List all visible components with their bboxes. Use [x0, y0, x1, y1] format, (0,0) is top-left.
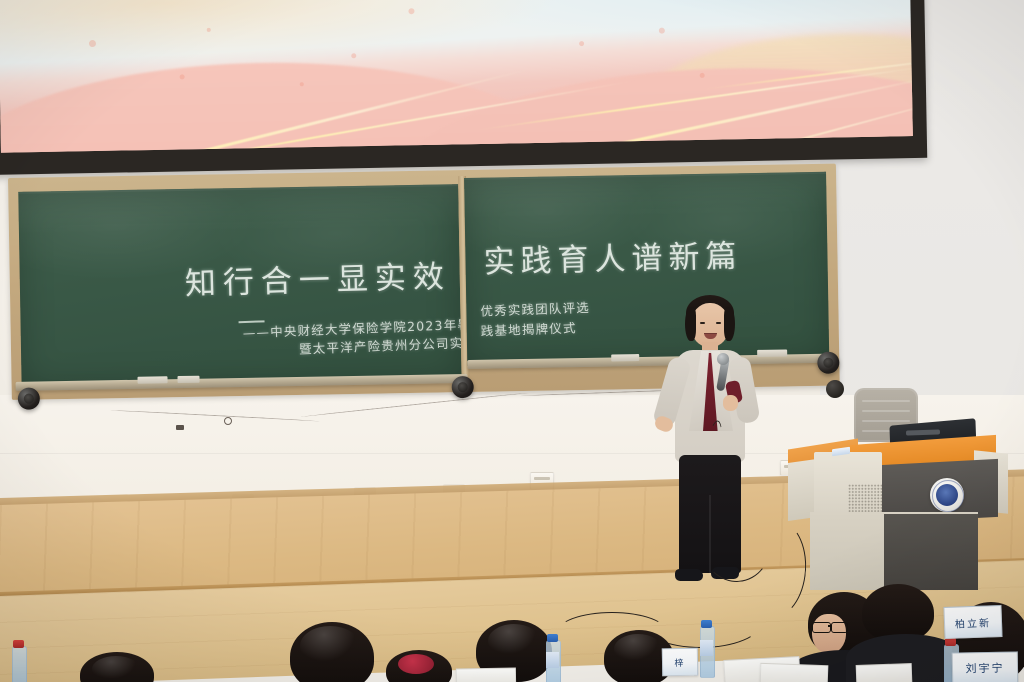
audience-head-sheen	[614, 634, 662, 664]
bottle-label	[546, 652, 559, 668]
projection-screen-frame	[0, 0, 927, 175]
presenter-shoe	[675, 569, 703, 581]
board-title-left: 知行合一显实效	[184, 251, 451, 303]
presenter-hand-right	[723, 395, 738, 411]
wall-speaker-icon	[826, 380, 844, 398]
cable-ring	[224, 417, 232, 425]
blackboard-eraser	[177, 376, 199, 383]
document-sheet	[856, 663, 913, 682]
blackboard-eraser	[611, 354, 639, 361]
board-title-right: 实践育人谱新篇	[483, 230, 743, 281]
name-card: 梓	[662, 648, 698, 677]
screen-speck	[700, 73, 705, 78]
name-card: 刘宇宁	[952, 651, 1019, 682]
screen-speck	[351, 53, 356, 58]
hair-accessory	[398, 654, 434, 674]
screen-speck	[300, 82, 304, 86]
audience-head-sheen	[300, 626, 360, 666]
eyeglasses-icon	[812, 622, 831, 633]
blackboard-eraser	[137, 376, 167, 384]
screen-speck	[180, 74, 185, 79]
screen-speck	[579, 41, 584, 46]
blackboard-panel-left: 知行合一显实效 ——中央财经大学保险学院2023年暑期 暨太平洋产险贵州分公司实	[18, 184, 461, 388]
document-sheet	[456, 667, 516, 682]
university-seal-icon	[930, 478, 964, 512]
bottle-cap	[547, 634, 558, 642]
projection-screen-surface	[0, 0, 913, 153]
board-subtitle-right-1: 优秀实践团队评选	[480, 297, 590, 320]
bottle-cap	[945, 638, 956, 646]
board-subtitle-right-2: 践基地揭牌仪式	[480, 317, 577, 339]
microphone-head	[717, 353, 729, 365]
screen-speck	[89, 40, 96, 47]
bottle-cap	[13, 640, 24, 648]
audience-head-sheen	[92, 656, 140, 682]
screen-speck	[659, 28, 665, 34]
name-card: 柏立新	[943, 605, 1002, 639]
water-bottle	[12, 646, 27, 682]
bottle-cap	[701, 620, 712, 628]
lectern[interactable]	[788, 430, 1008, 590]
cable-clip	[176, 425, 184, 430]
screen-speck	[408, 8, 414, 14]
audience-face	[812, 614, 846, 654]
presenter-eye	[700, 322, 705, 324]
screen-speck	[207, 28, 211, 32]
audience-head-sheen	[488, 624, 540, 658]
presenter-hair-side	[724, 307, 735, 341]
document-sheet	[760, 663, 829, 682]
presenter-eye	[716, 322, 721, 324]
eyeglasses-icon	[831, 622, 848, 633]
lectern-control-panel[interactable]	[814, 452, 882, 520]
presenter-hair-side	[685, 307, 696, 341]
eyeglasses-bridge	[828, 625, 832, 627]
bottle-label	[700, 640, 713, 656]
lectern-base-dark	[884, 514, 978, 590]
lecture-hall-photo: 知行合一显实效 ——中央财经大学保险学院2023年暑期 暨太平洋产险贵州分公司实…	[0, 0, 1024, 682]
